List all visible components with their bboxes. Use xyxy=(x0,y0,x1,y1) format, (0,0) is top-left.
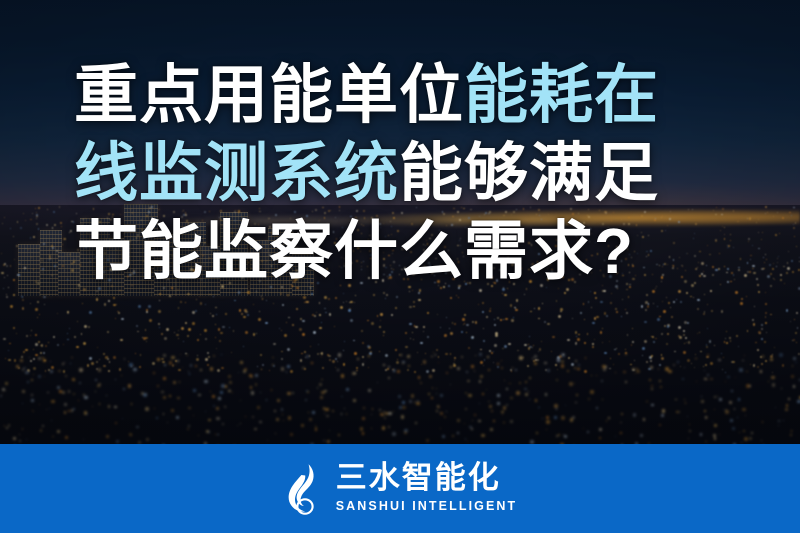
flame-droplet-icon xyxy=(283,463,323,515)
headline-line-1-segment-1: 重点用能单位 xyxy=(74,59,464,131)
headline-line-1: 重点用能单位能耗在 xyxy=(74,56,774,134)
headline-line-2-segment-2: 能够满足 xyxy=(399,137,659,209)
logo-name-en: SANSHUI INTELLIGENT xyxy=(336,497,518,516)
headline-line-2: 线监测系统能够满足 xyxy=(74,134,774,212)
headline-line-3-segment-1: 节能监察什么需求? xyxy=(74,215,634,287)
promo-banner: 重点用能单位能耗在 线监测系统能够满足 节能监察什么需求? 三水智能化 SANS… xyxy=(0,0,800,533)
logo-lockup: 三水智能化 SANSHUI INTELLIGENT xyxy=(283,461,518,515)
logo-text-block: 三水智能化 SANSHUI INTELLIGENT xyxy=(336,461,518,515)
headline-line-3: 节能监察什么需求? xyxy=(74,212,774,290)
headline-line-2-segment-1: 线监测系统 xyxy=(74,137,399,209)
headline-line-1-segment-2: 能耗在 xyxy=(464,59,659,131)
footer-brand-bar: 三水智能化 SANSHUI INTELLIGENT xyxy=(0,444,800,533)
headline-block: 重点用能单位能耗在 线监测系统能够满足 节能监察什么需求? xyxy=(74,56,774,290)
logo-name-cn: 三水智能化 xyxy=(336,461,501,494)
